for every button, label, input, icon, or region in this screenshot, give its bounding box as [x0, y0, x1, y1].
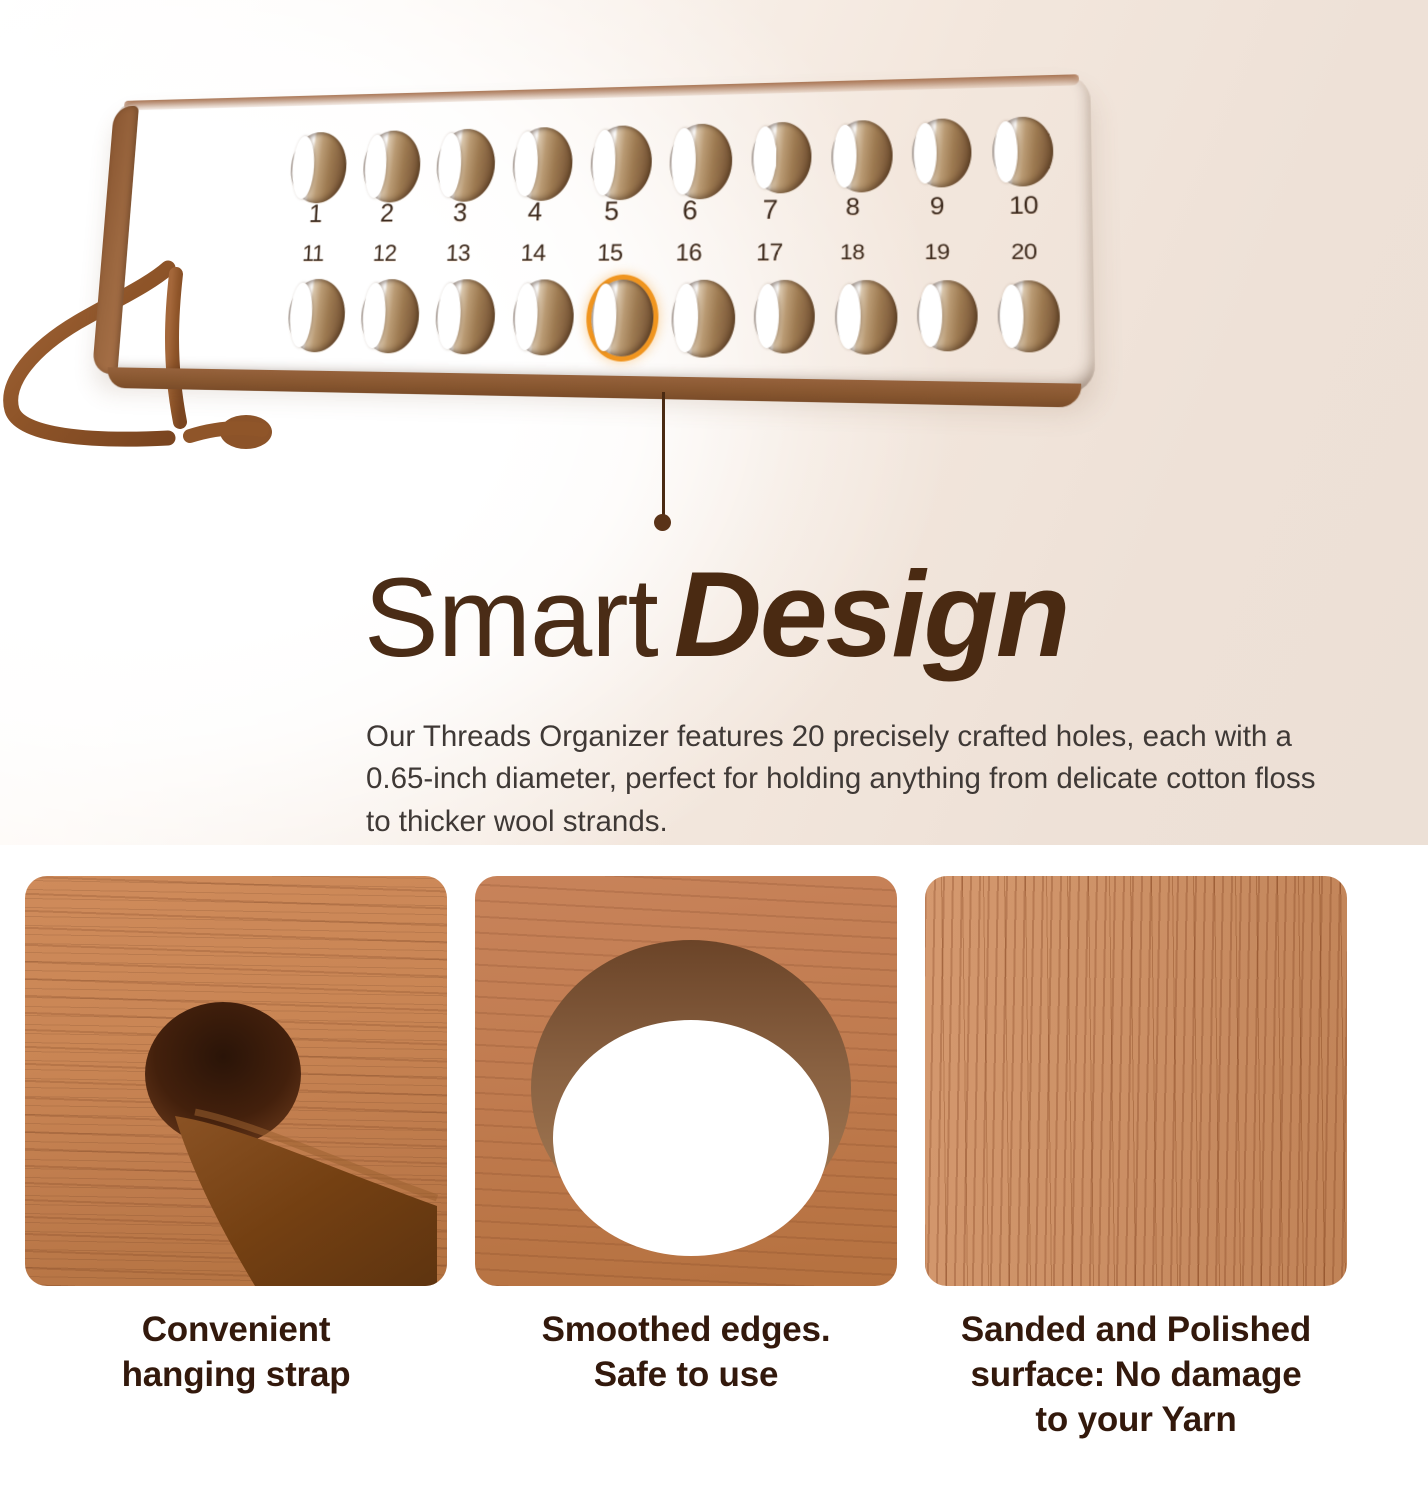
- hole-number-7: 7: [738, 194, 803, 226]
- hole-11: [286, 279, 347, 353]
- hole-3: [435, 128, 496, 202]
- hole-17: [754, 280, 816, 354]
- hole-number-8: 8: [820, 193, 886, 225]
- callout-dot: [654, 514, 671, 531]
- product-feature-page: 1 2 3 4 5 6 7 8 9 10 11 12 13 14 15 16 1…: [0, 0, 1428, 1500]
- hole-number-6: 6: [658, 195, 721, 227]
- hole-number-5: 5: [580, 196, 642, 227]
- callout-leader-line: [662, 392, 665, 516]
- caption-hanging-strap: Convenient hanging strap: [25, 1308, 447, 1442]
- holes-row-top: [289, 116, 1054, 203]
- caption-line: Sanded and Polished: [925, 1308, 1347, 1353]
- hole-16: [671, 280, 736, 358]
- caption-line: Convenient: [25, 1308, 447, 1353]
- hole-7: [751, 121, 812, 193]
- hole-number-20: 20: [989, 238, 1059, 268]
- caption-sanded-surface: Sanded and Polished surface: No damage t…: [925, 1308, 1347, 1442]
- hole-14: [511, 279, 574, 355]
- hole-number-10: 10: [989, 191, 1058, 224]
- hole-6: [669, 123, 733, 199]
- feature-image-sanded-surface: [925, 876, 1347, 1286]
- hole-number-17: 17: [737, 239, 802, 268]
- headline-light-word: Smart: [364, 555, 658, 680]
- hole-19: [917, 280, 978, 352]
- hero-description: Our Threads Organizer features 20 precis…: [366, 716, 1346, 844]
- hole-number-9: 9: [903, 192, 971, 225]
- hole-5: [589, 125, 652, 200]
- hole-12: [359, 279, 421, 354]
- hole-number-12: 12: [355, 241, 414, 268]
- hole-number-13: 13: [428, 240, 488, 267]
- hole-number-4: 4: [504, 197, 565, 228]
- feature-captions: Convenient hanging strap Smoothed edges.…: [25, 1308, 1347, 1442]
- hole-number-1: 1: [287, 199, 344, 229]
- bevelled-hole-illustration: [475, 876, 897, 1286]
- hole-number-15: 15: [579, 240, 641, 268]
- hole-number-16: 16: [657, 239, 721, 267]
- hole-2: [361, 130, 422, 203]
- hole-20: [997, 280, 1060, 352]
- caption-line: Safe to use: [475, 1353, 897, 1398]
- feature-image-hanging-strap: [25, 876, 447, 1286]
- caption-line: hanging strap: [25, 1353, 447, 1398]
- hole-18: [834, 280, 897, 355]
- hole-number-11: 11: [284, 241, 341, 268]
- hole-numbers-row-bottom: 11 12 13 14 15 16 17 18 19 20: [284, 238, 1059, 268]
- feature-image-smoothed-hole: [475, 876, 897, 1286]
- hole-number-14: 14: [503, 240, 564, 268]
- hole-1: [289, 132, 349, 204]
- board-bottom-edge: [106, 367, 1082, 408]
- hole-number-19: 19: [903, 238, 971, 267]
- holes-row-bottom: [286, 279, 1060, 363]
- hole-number-2: 2: [358, 198, 417, 228]
- hole-number-18: 18: [819, 239, 885, 268]
- headline-bold-word: Design: [674, 546, 1069, 682]
- hole-9: [912, 118, 972, 188]
- board-left-edge: [92, 106, 139, 374]
- caption-smoothed-edges: Smoothed edges. Safe to use: [475, 1308, 897, 1442]
- feature-thumbnails: [25, 876, 1347, 1286]
- hole-13: [434, 279, 496, 354]
- hole-10: [992, 116, 1054, 187]
- hole-4: [511, 127, 573, 201]
- feature-card: Convenient hanging strap Smoothed edges.…: [0, 846, 1372, 1500]
- strap-through-hole-illustration: [25, 876, 447, 1286]
- hole-15-highlighted: [590, 280, 654, 357]
- caption-line: to your Yarn: [925, 1398, 1347, 1443]
- hole-number-3: 3: [430, 198, 490, 228]
- hole-8: [830, 120, 892, 193]
- threads-organizer-board: 1 2 3 4 5 6 7 8 9 10 11 12 13 14 15 16 1…: [56, 84, 1086, 464]
- caption-line: surface: No damage: [925, 1353, 1347, 1398]
- caption-line: Smoothed edges.: [475, 1308, 897, 1353]
- page-title: SmartDesign: [364, 553, 1068, 675]
